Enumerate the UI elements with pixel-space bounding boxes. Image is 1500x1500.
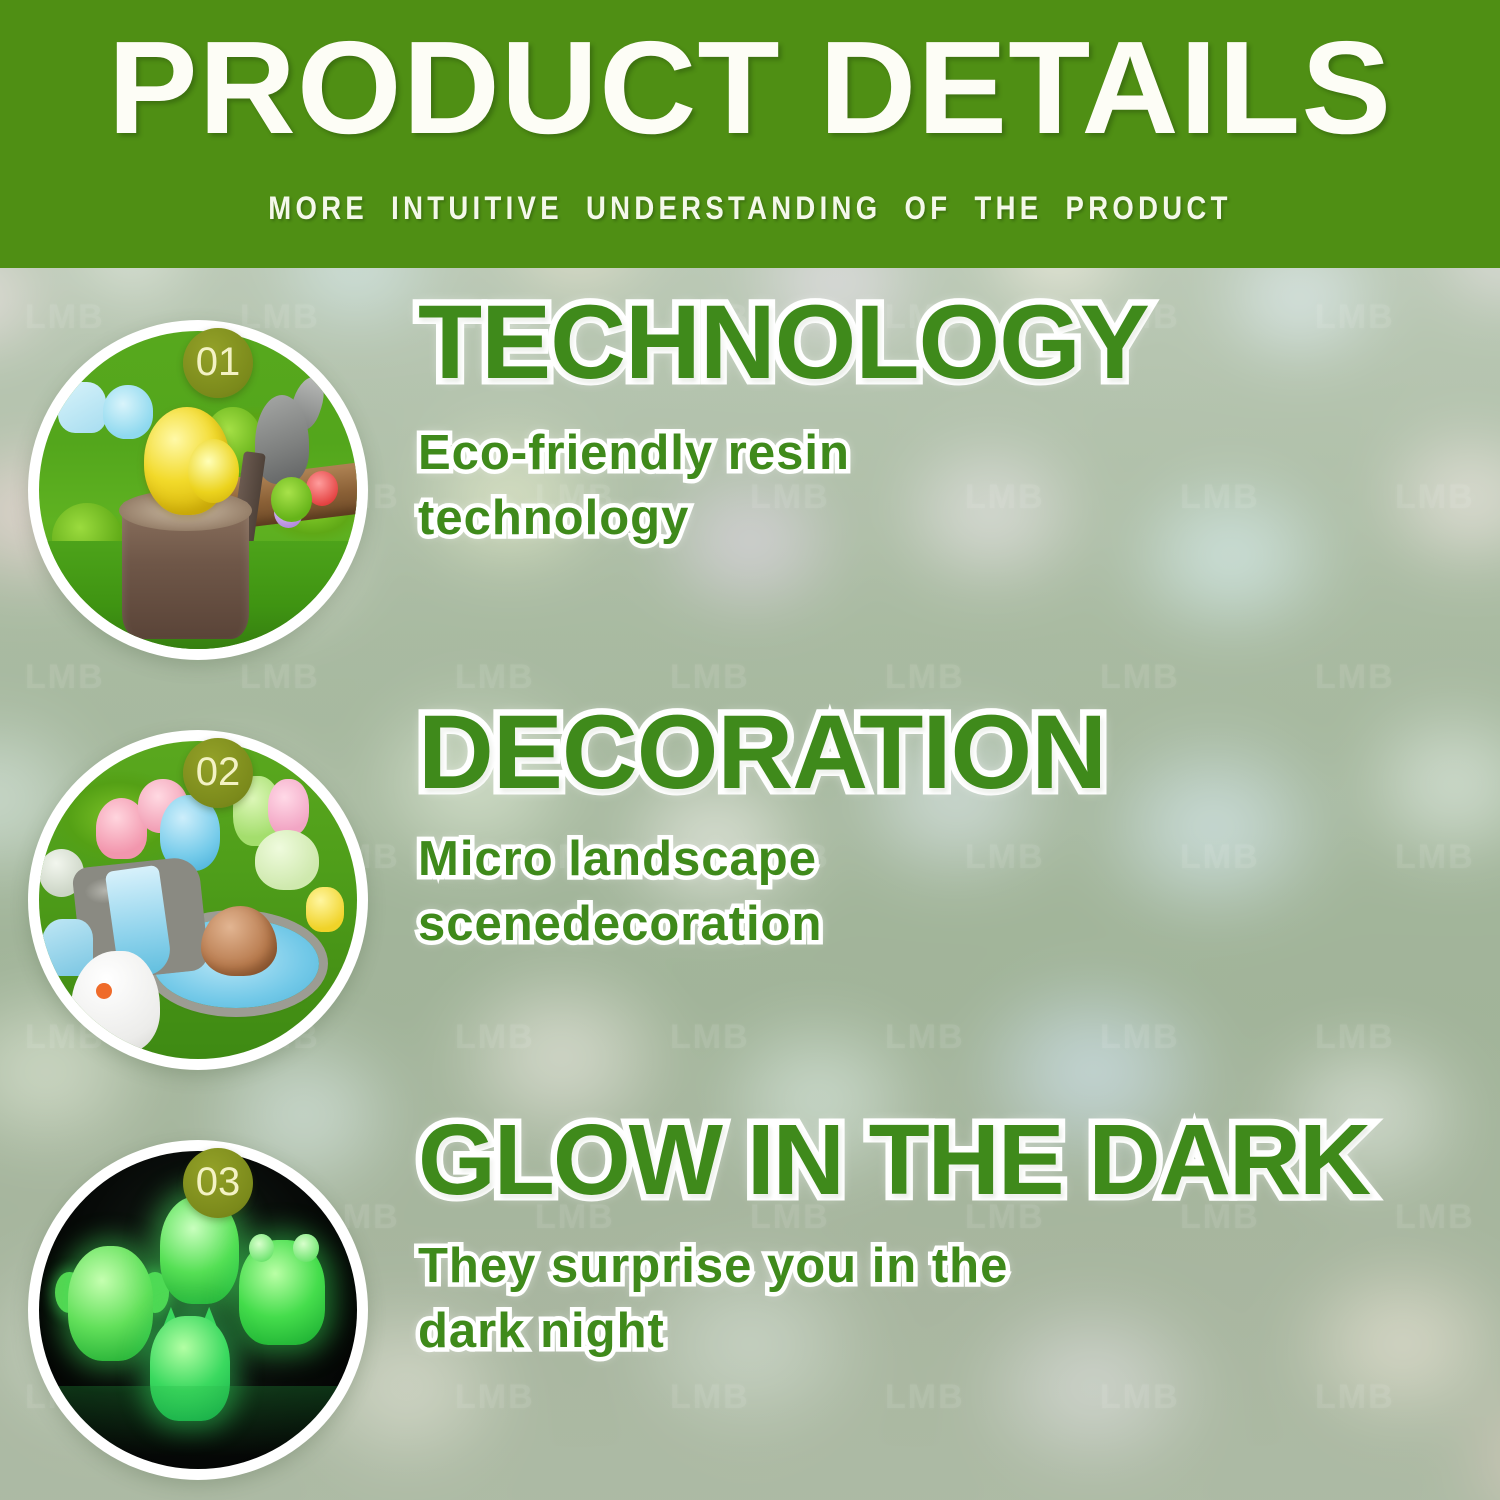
goose-beak — [96, 983, 112, 999]
moss-bush-icon — [271, 477, 312, 522]
step-badge-03: 03 — [183, 1148, 253, 1218]
feature-text-technology: TECHNOLOGY Eco-friendly resin technology — [418, 290, 1488, 550]
header-banner: PRODUCT DETAILS MORE INTUITIVE UNDERSTAN… — [0, 0, 1500, 268]
feature-row-decoration: 02 DECORATION Micro landscape scenedecor… — [0, 700, 1500, 1100]
white-goose-figurine — [71, 951, 160, 1053]
feature-text-decoration: DECORATION Micro landscape scenedecorati… — [418, 700, 1488, 956]
feature-photo-glow[interactable]: 03 — [28, 1140, 368, 1480]
feature-row-technology: 01 TECHNOLOGY Eco-friendly resin technol… — [0, 290, 1500, 690]
pink-rabbit-figurine — [268, 779, 309, 836]
blue-cat-figurine — [103, 385, 154, 439]
capybara-figurine — [201, 906, 277, 976]
feature-description: Eco-friendly resin technology — [418, 421, 1058, 550]
step-badge-label: 03 — [196, 1162, 241, 1202]
feature-row-glow-in-the-dark: 03 GLOW IN THE DARK They surprise you in… — [0, 1110, 1500, 1500]
feature-description: Micro landscape scenedecoration — [418, 827, 1058, 956]
glowing-dog-figurine — [68, 1246, 154, 1360]
step-badge-label: 01 — [196, 342, 241, 382]
ice-crystal-icon — [58, 382, 106, 433]
feature-photo-decoration[interactable]: 02 — [28, 730, 368, 1070]
page-title: PRODUCT DETAILS — [0, 22, 1500, 154]
step-badge-label: 02 — [196, 752, 241, 792]
feature-text-glow: GLOW IN THE DARK They surprise you in th… — [418, 1110, 1488, 1363]
frog-eye — [293, 1234, 318, 1263]
product-details-infographic: LMBLMBLMBLMBLMBLMBLMBLMBLMBLMBLMBLMBLMBL… — [0, 0, 1500, 1500]
yellow-resin-figurine-small — [188, 439, 239, 503]
yellow-chick-figurine — [306, 887, 344, 932]
feature-photo-technology[interactable]: 01 — [28, 320, 368, 660]
feature-description: They surprise you in the dark night — [418, 1234, 1058, 1363]
step-badge-01: 01 — [183, 328, 253, 398]
feature-title: DECORATION — [418, 700, 1488, 805]
page-subtitle: MORE INTUITIVE UNDERSTANDING OF THE PROD… — [105, 192, 1395, 224]
feature-title: GLOW IN THE DARK — [418, 1110, 1488, 1210]
glow-reflection — [39, 1386, 357, 1469]
step-badge-02: 02 — [183, 738, 253, 808]
pale-frog-figurine — [255, 830, 319, 890]
feature-title: TECHNOLOGY — [418, 290, 1488, 395]
